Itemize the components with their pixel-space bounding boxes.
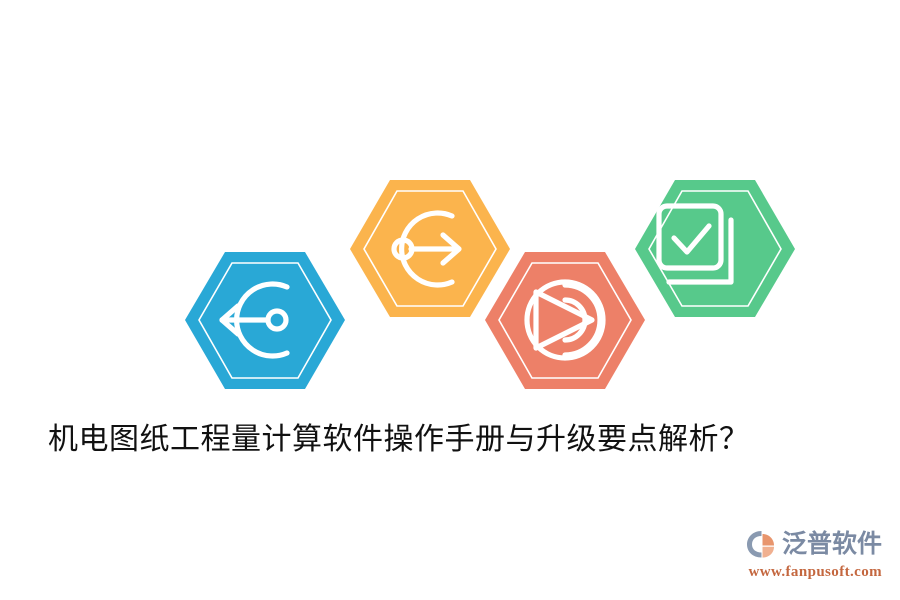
hexagon-shape-salmon: [485, 252, 645, 389]
hexagon-icon-cluster: [0, 0, 900, 420]
brand-url: www.fanpusoft.com: [730, 562, 882, 582]
hexagon-item-3[interactable]: [485, 252, 645, 389]
hexagon-item-1[interactable]: [185, 252, 345, 389]
hexagon-item-2[interactable]: [350, 180, 510, 317]
brand-name: 泛普软件: [782, 528, 882, 560]
poster-canvas: 机电图纸工程量计算软件操作手册与升级要点解析？ 泛普软件 www.fanpuso…: [0, 0, 900, 600]
brand-watermark: 泛普软件 www.fanpusoft.com: [730, 526, 882, 588]
hexagon-item-4[interactable]: [635, 180, 795, 317]
fanpu-logo-icon: [746, 528, 780, 560]
page-title: 机电图纸工程量计算软件操作手册与升级要点解析？: [48, 418, 860, 462]
brand-logo-row: 泛普软件: [730, 526, 882, 562]
